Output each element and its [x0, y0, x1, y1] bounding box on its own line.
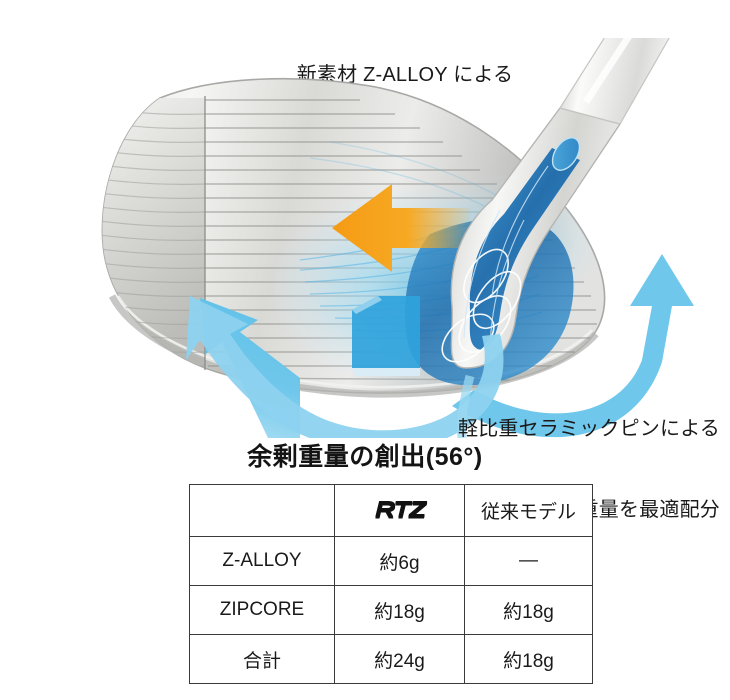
table-row: Z-ALLOY 約6g —: [190, 537, 593, 586]
row-label-zipcore: ZIPCORE: [190, 586, 335, 635]
rtz-logo: RTZ: [375, 498, 425, 523]
row-label-z-alloy: Z-ALLOY: [190, 537, 335, 586]
cell-total-rtz: 約24g: [335, 635, 465, 684]
header-cell-conventional: 従来モデル: [465, 485, 593, 537]
cell-z-alloy-rtz: 約6g: [335, 537, 465, 586]
table-row: 合計 約24g 約18g: [190, 635, 593, 684]
header-cell-rtz: RTZ: [335, 485, 465, 537]
weight-spec-table: RTZ 従来モデル Z-ALLOY 約6g — ZIPCORE 約18g 約18…: [189, 484, 593, 684]
cell-total-conventional: 約18g: [465, 635, 593, 684]
cell-z-alloy-conventional: —: [465, 537, 593, 586]
row-label-total: 合計: [190, 635, 335, 684]
cell-zipcore-conventional: 約18g: [465, 586, 593, 635]
table-header-row: RTZ 従来モデル: [190, 485, 593, 537]
table-title: 余剰重量の創出(56°): [0, 437, 730, 473]
header-cell-blank: [190, 485, 335, 537]
cell-zipcore-rtz: 約18g: [335, 586, 465, 635]
product-infographic: 新素材 Z-ALLOY による 余剰重量を最適配分: [0, 0, 730, 700]
table-row: ZIPCORE 約18g 約18g: [190, 586, 593, 635]
